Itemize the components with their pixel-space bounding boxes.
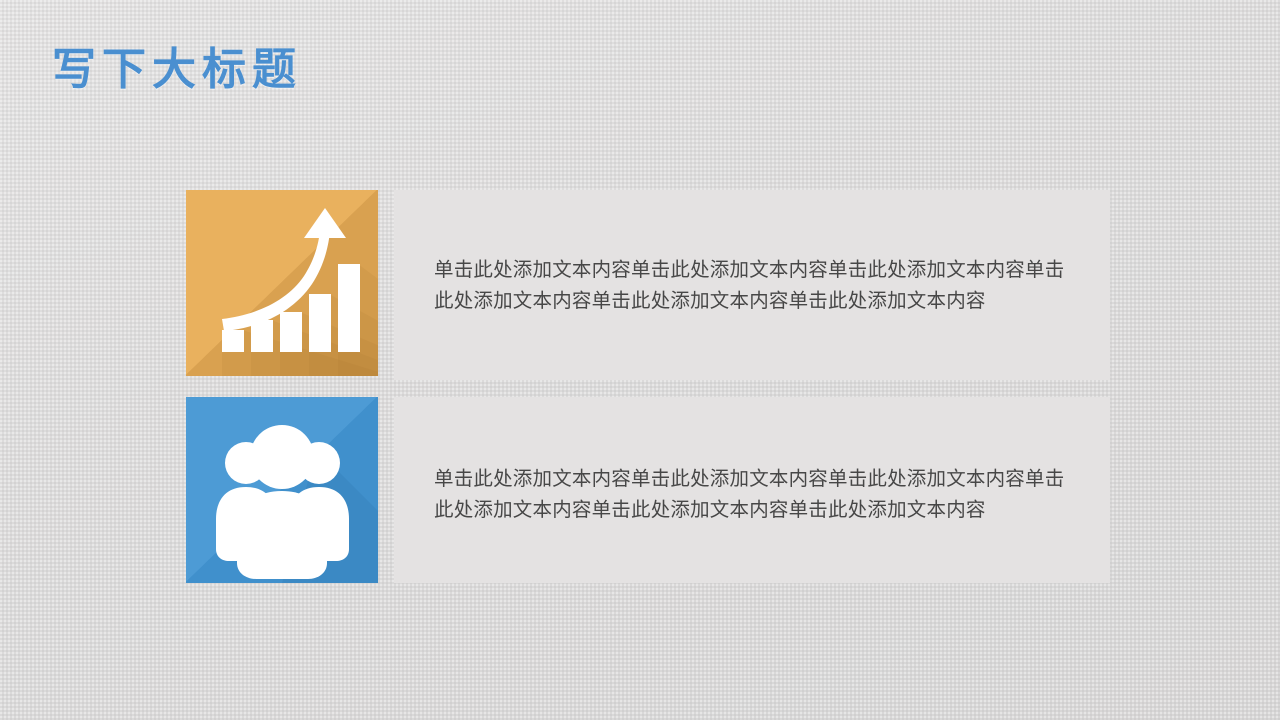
people-group-icon: [186, 397, 378, 583]
slide-canvas: 写下大标题: [0, 0, 1280, 720]
content-row-1: 单击此处添加文本内容单击此处添加文本内容单击此处添加文本内容单击此处添加文本内容…: [186, 190, 1110, 376]
text-panel-2: 单击此处添加文本内容单击此处添加文本内容单击此处添加文本内容单击此处添加文本内容…: [394, 397, 1110, 583]
body-text-2: 单击此处添加文本内容单击此处添加文本内容单击此处添加文本内容单击此处添加文本内容…: [434, 463, 1070, 525]
body-text-1: 单击此处添加文本内容单击此处添加文本内容单击此处添加文本内容单击此处添加文本内容…: [434, 254, 1070, 316]
growth-chart-icon: [186, 190, 378, 376]
content-row-2: 单击此处添加文本内容单击此处添加文本内容单击此处添加文本内容单击此处添加文本内容…: [186, 397, 1110, 583]
text-panel-1: 单击此处添加文本内容单击此处添加文本内容单击此处添加文本内容单击此处添加文本内容…: [394, 190, 1110, 380]
icon-tile-people-group[interactable]: [186, 397, 378, 583]
page-title: 写下大标题: [52, 46, 302, 94]
icon-tile-growth-chart[interactable]: [186, 190, 378, 376]
